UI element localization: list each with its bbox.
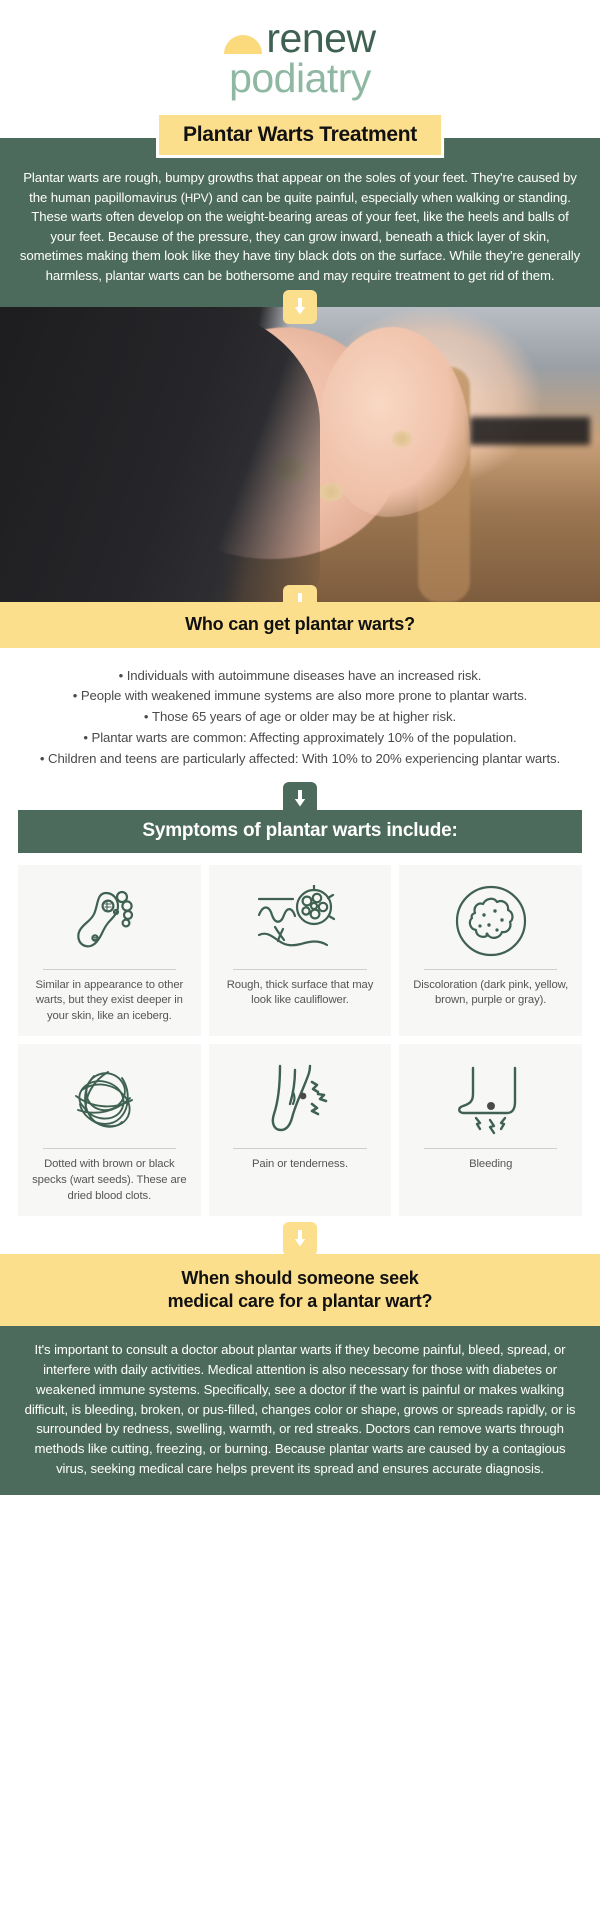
card-divider (424, 1148, 557, 1149)
care-section-heading: When should someone seek medical care fo… (0, 1254, 600, 1326)
intro-section: Plantar warts are rough, bumpy growths t… (0, 138, 600, 307)
tangled-threads-icon (68, 1058, 150, 1142)
care-heading-line1: When should someone seek (10, 1267, 590, 1290)
symptom-card-3: Discoloration (dark pink, yellow, brown,… (399, 865, 582, 1037)
list-item: People with weakened immune systems are … (30, 686, 570, 706)
symptom-card-text: Bleeding (469, 1157, 512, 1173)
card-divider (424, 969, 557, 970)
down-arrow-icon-2 (283, 585, 317, 602)
care-heading-line2: medical care for a plantar wart? (10, 1290, 590, 1313)
symptom-card-text: Dotted with brown or black specks (wart … (28, 1157, 191, 1204)
list-item: Children and teens are particularly affe… (30, 749, 570, 769)
page-title: Plantar Warts Treatment (156, 112, 444, 158)
brand-name-line1: renew (266, 18, 375, 58)
symptom-card-5: Pain or tenderness. (209, 1044, 392, 1216)
cauliflower-surface-icon (255, 879, 345, 963)
who-bullet-list: Individuals with autoimmune diseases hav… (0, 648, 600, 788)
brand-logo: renew podiatry (0, 0, 600, 104)
foot-photo (0, 307, 600, 602)
symptoms-section-heading: Symptoms of plantar warts include: (18, 810, 582, 853)
arrow-spacer-3 (0, 788, 600, 810)
symptom-card-text: Discoloration (dark pink, yellow, brown,… (409, 978, 572, 1009)
hpv-abbrev: HPV (185, 192, 209, 205)
arrow-spacer-4 (0, 1224, 600, 1254)
who-section-heading: Who can get plantar warts? (0, 602, 600, 648)
symptoms-grid: Similar in appearance to other warts, bu… (18, 865, 582, 1216)
foot-with-warts-icon (72, 879, 146, 963)
card-divider (43, 1148, 176, 1149)
symptoms-grid-wrap: Similar in appearance to other warts, bu… (0, 853, 600, 1224)
intro-paragraph: Plantar warts are rough, bumpy growths t… (18, 168, 582, 285)
symptom-card-2: Rough, thick surface that may look like … (209, 865, 392, 1037)
symptom-card-text: Rough, thick surface that may look like … (219, 978, 382, 1009)
symptom-card-text: Pain or tenderness. (252, 1157, 348, 1173)
symptom-card-text: Similar in appearance to other warts, bu… (28, 978, 191, 1025)
card-divider (233, 1148, 366, 1149)
card-divider (233, 969, 366, 970)
list-item: Individuals with autoimmune diseases hav… (30, 666, 570, 686)
care-section-body: It's important to consult a doctor about… (0, 1326, 600, 1495)
care-paragraph: It's important to consult a doctor about… (18, 1340, 582, 1479)
foot-bleeding-icon (451, 1058, 531, 1142)
foot-pain-icon (262, 1058, 338, 1142)
brand-name-line2: podiatry (229, 55, 371, 101)
discoloration-blob-icon (453, 879, 529, 963)
sunrise-icon (224, 35, 262, 54)
symptom-card-1: Similar in appearance to other warts, bu… (18, 865, 201, 1037)
symptom-card-6: Bleeding (399, 1044, 582, 1216)
list-item: Plantar warts are common: Affecting appr… (30, 728, 570, 748)
symptom-card-4: Dotted with brown or black specks (wart … (18, 1044, 201, 1216)
down-arrow-icon-1 (283, 290, 317, 324)
infographic-page: renew podiatry Plantar Warts Treatment P… (0, 0, 600, 1921)
card-divider (43, 969, 176, 970)
title-banner-zone: Plantar Warts Treatment (0, 104, 600, 138)
down-arrow-icon-3 (283, 782, 317, 816)
down-arrow-icon-4 (283, 1222, 317, 1256)
list-item: Those 65 years of age or older may be at… (30, 707, 570, 727)
